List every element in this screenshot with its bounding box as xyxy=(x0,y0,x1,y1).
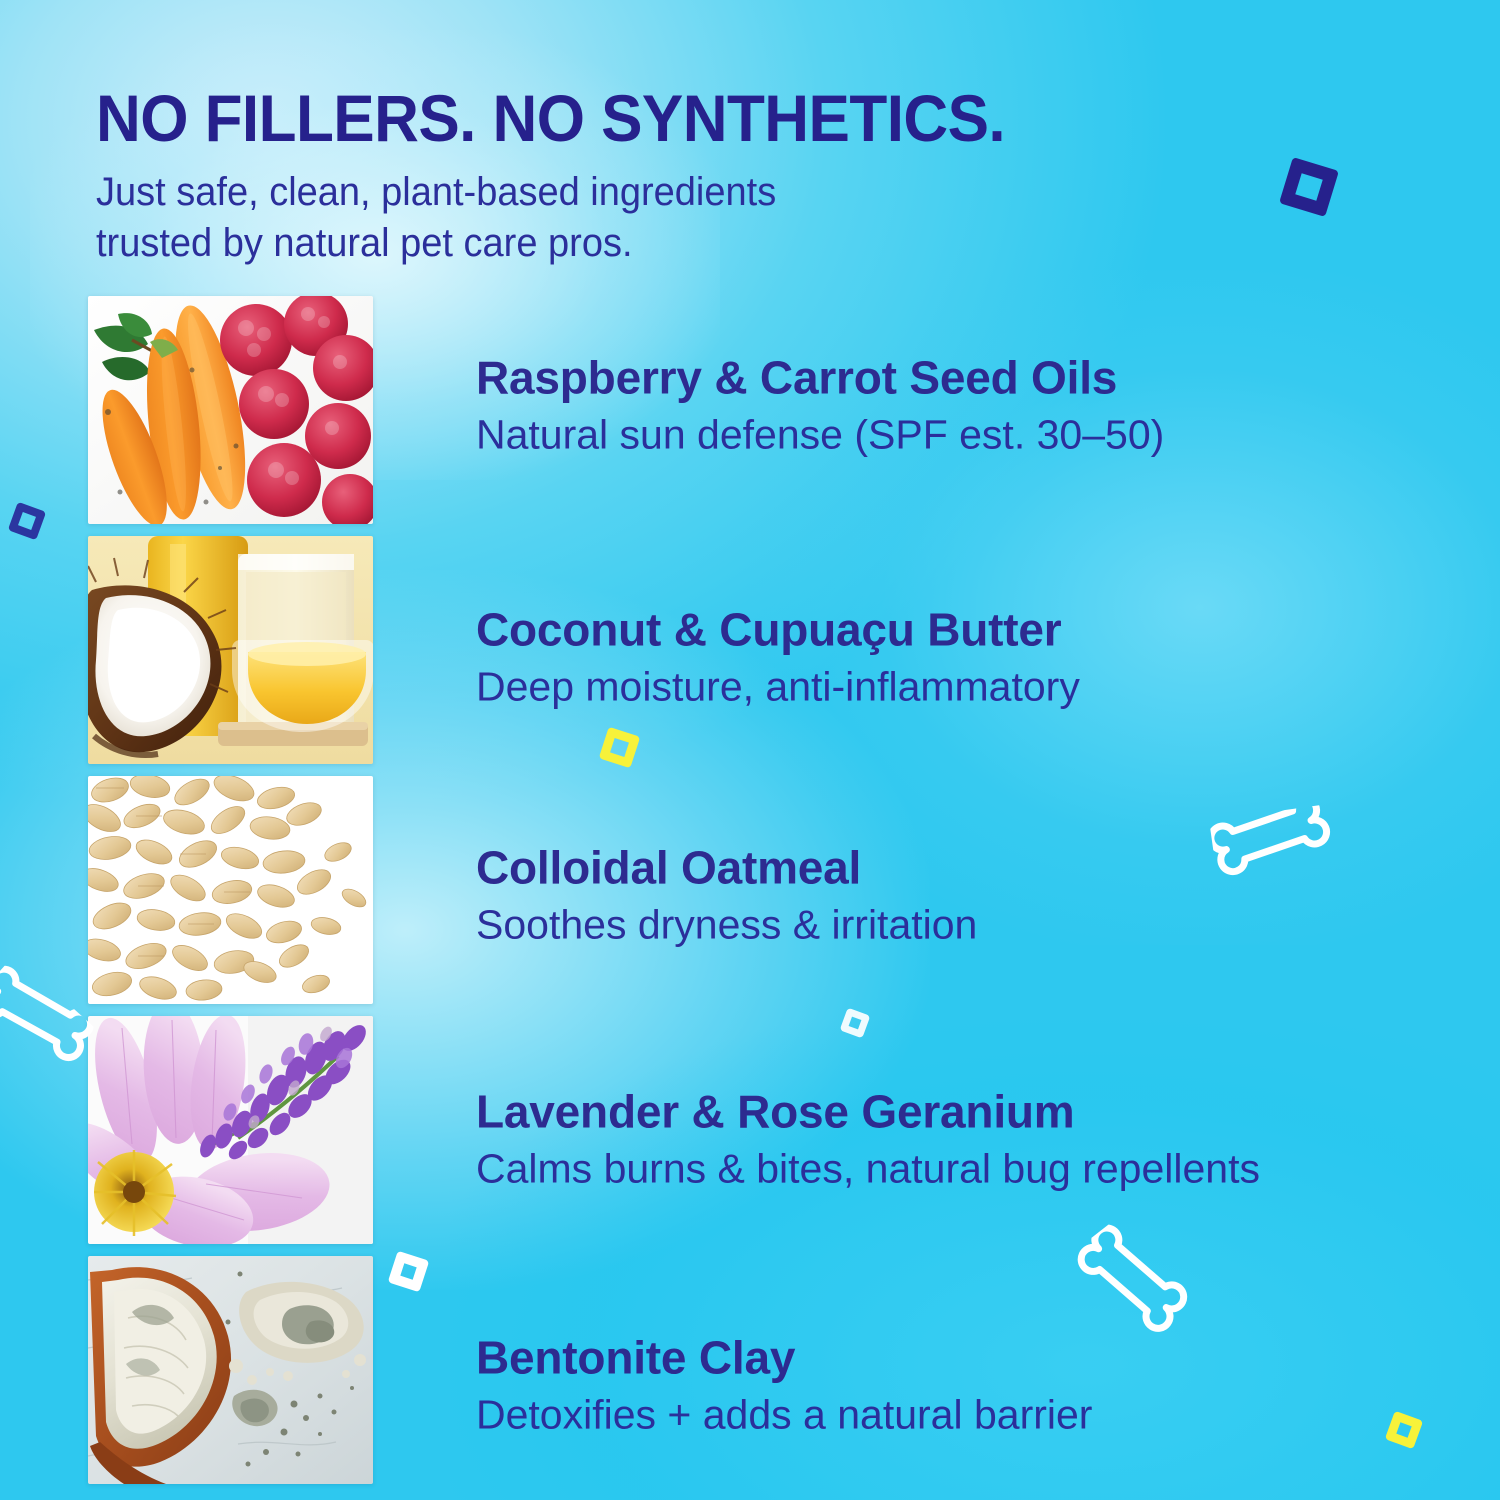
ingredient-subtitle: Natural sun defense (SPF est. 30–50) xyxy=(476,410,1476,459)
ingredient-subtitle: Calms burns & bites, natural bug repelle… xyxy=(476,1144,1476,1193)
page-subheadline: Just safe, clean, plant-based ingredient… xyxy=(96,167,1265,269)
ingredient-title: Bentonite Clay xyxy=(476,1333,1476,1385)
ingredient-row: Raspberry & Carrot Seed Oils Natural sun… xyxy=(0,292,1500,532)
oat-flakes-photo xyxy=(88,776,373,1004)
ingredient-subtitle: Detoxifies + adds a natural barrier xyxy=(476,1390,1476,1439)
lavender-and-flower-photo xyxy=(88,1016,373,1244)
clay-on-wooden-spoon-photo xyxy=(88,1256,373,1484)
ingredient-title: Coconut & Cupuaçu Butter xyxy=(476,605,1476,657)
ingredient-infographic-poster: NO FILLERS. NO SYNTHETICS. Just safe, cl… xyxy=(0,0,1500,1500)
ingredient-row: Bentonite Clay Detoxifies + adds a natur… xyxy=(0,1252,1500,1492)
ingredient-subtitle: Soothes dryness & irritation xyxy=(476,900,1476,949)
page-headline: NO FILLERS. NO SYNTHETICS. xyxy=(96,84,1252,153)
ingredient-row: Colloidal Oatmeal Soothes dryness & irri… xyxy=(0,772,1500,1012)
ingredient-text: Colloidal Oatmeal Soothes dryness & irri… xyxy=(476,843,1476,950)
ingredient-list: Raspberry & Carrot Seed Oils Natural sun… xyxy=(0,292,1500,1492)
ingredient-row: Lavender & Rose Geranium Calms burns & b… xyxy=(0,1012,1500,1252)
subheadline-line-2: trusted by natural pet care pros. xyxy=(96,218,1265,269)
carrots-and-raspberries-photo xyxy=(88,296,373,524)
ingredient-row: Coconut & Cupuaçu Butter Deep moisture, … xyxy=(0,532,1500,772)
header-block: NO FILLERS. NO SYNTHETICS. Just safe, cl… xyxy=(96,84,1326,269)
ingredient-title: Lavender & Rose Geranium xyxy=(476,1087,1476,1139)
ingredient-text: Bentonite Clay Detoxifies + adds a natur… xyxy=(476,1333,1476,1440)
ingredient-text: Lavender & Rose Geranium Calms burns & b… xyxy=(476,1087,1476,1194)
coconut-and-oil-photo xyxy=(88,536,373,764)
ingredient-title: Colloidal Oatmeal xyxy=(476,843,1476,895)
ingredient-title: Raspberry & Carrot Seed Oils xyxy=(476,353,1476,405)
ingredient-text: Coconut & Cupuaçu Butter Deep moisture, … xyxy=(476,605,1476,712)
ingredient-subtitle: Deep moisture, anti-inflammatory xyxy=(476,662,1476,711)
ingredient-text: Raspberry & Carrot Seed Oils Natural sun… xyxy=(476,353,1476,460)
subheadline-line-1: Just safe, clean, plant-based ingredient… xyxy=(96,167,1265,218)
